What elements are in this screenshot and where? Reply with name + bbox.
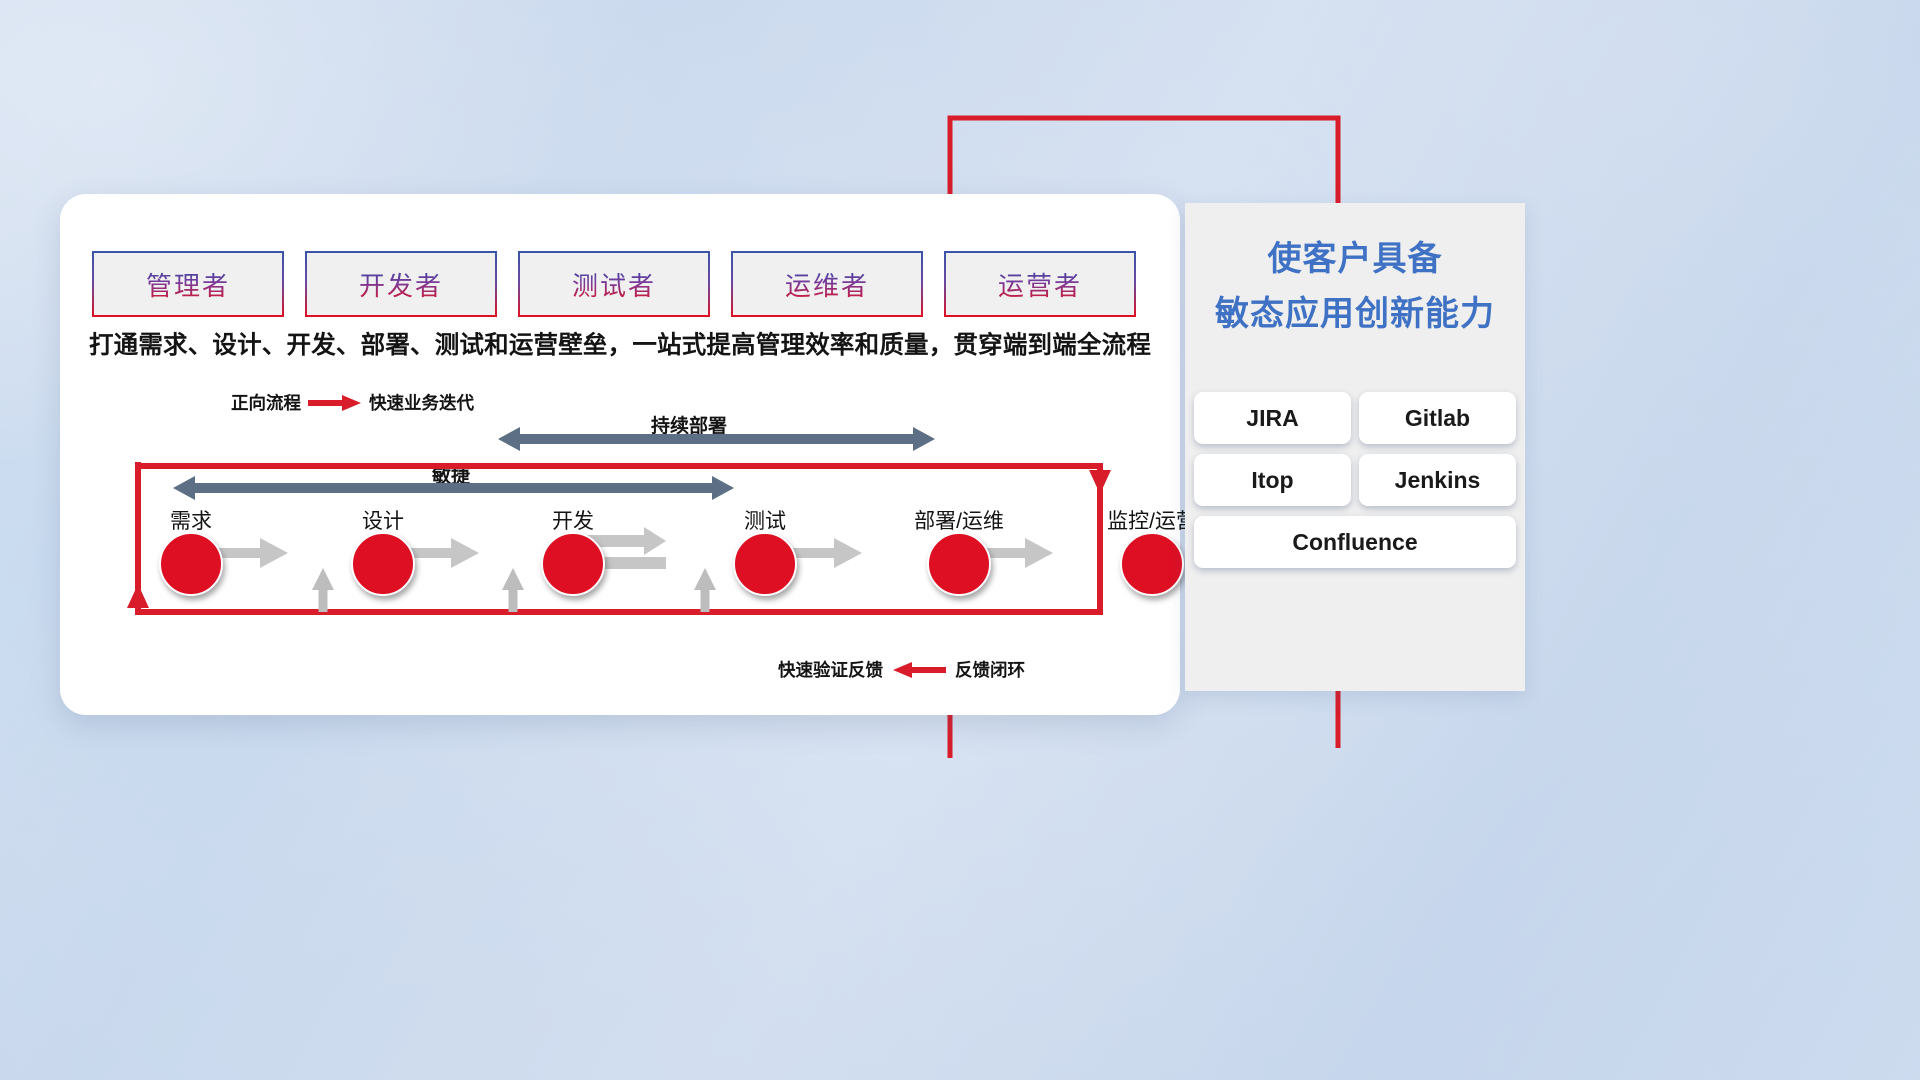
annotation-agile-label: 敏捷 (432, 461, 470, 488)
role-box-1[interactable]: 开发者 (305, 251, 497, 317)
annotation-continuous-deploy-label: 持续部署 (651, 411, 727, 438)
node-label-4: 部署/运维 (914, 505, 1004, 535)
right-panel-title-line2: 敏态应用创新能力 (1185, 287, 1525, 342)
role-box-3[interactable]: 运维者 (731, 251, 923, 317)
tool-button-confluence[interactable]: Confluence (1194, 516, 1516, 568)
role-label: 运维者 (785, 266, 869, 303)
role-label: 运营者 (998, 266, 1082, 303)
annotation-feedback-right-label: 反馈闭环 (955, 657, 1025, 682)
tool-button-gitlab[interactable]: Gitlab (1359, 392, 1516, 444)
annotation-forward-left-label: 正向流程 (231, 390, 301, 415)
tool-button-itop[interactable]: Itop (1194, 454, 1351, 506)
node-dot-4[interactable] (927, 532, 991, 596)
right-panel-title: 使客户具备 敏态应用创新能力 (1185, 232, 1525, 342)
role-box-0[interactable]: 管理者 (92, 251, 284, 317)
annotation-feedback-left-label: 快速验证反馈 (778, 657, 883, 682)
role-label: 开发者 (359, 266, 443, 303)
annotation-feedback-loop: 快速验证反馈 反馈闭环 (778, 657, 1025, 682)
tool-button-jenkins[interactable]: Jenkins (1359, 454, 1516, 506)
red-left-arrow-icon (892, 661, 946, 679)
node-label-2: 开发 (552, 505, 594, 535)
right-panel-title-line1: 使客户具备 (1185, 232, 1525, 287)
node-dot-1[interactable] (351, 532, 415, 596)
role-label: 测试者 (572, 266, 656, 303)
node-label-3: 测试 (744, 505, 786, 535)
annotation-forward-flow: 正向流程 快速业务迭代 (231, 390, 474, 415)
node-label-0: 需求 (170, 505, 212, 535)
node-dot-5[interactable] (1120, 532, 1184, 596)
node-dot-2[interactable] (541, 532, 605, 596)
description-text: 打通需求、设计、开发、部署、测试和运营壁垒，一站式提高管理效率和质量，贯穿端到端… (60, 326, 1180, 361)
tool-button-list: JIRA Gitlab Itop Jenkins Confluence (1194, 392, 1516, 568)
red-right-arrow-icon (308, 394, 362, 412)
annotation-forward-right-label: 快速业务迭代 (369, 390, 474, 415)
tool-button-jira[interactable]: JIRA (1194, 392, 1351, 444)
role-box-2[interactable]: 测试者 (518, 251, 710, 317)
role-box-list: 管理者 开发者 测试者 运维者 运营者 (92, 251, 1136, 317)
role-box-4[interactable]: 运营者 (944, 251, 1136, 317)
role-label: 管理者 (146, 266, 230, 303)
node-label-5: 监控/运营 (1107, 505, 1197, 535)
node-dot-3[interactable] (733, 532, 797, 596)
node-dot-0[interactable] (159, 532, 223, 596)
node-label-1: 设计 (362, 505, 404, 535)
